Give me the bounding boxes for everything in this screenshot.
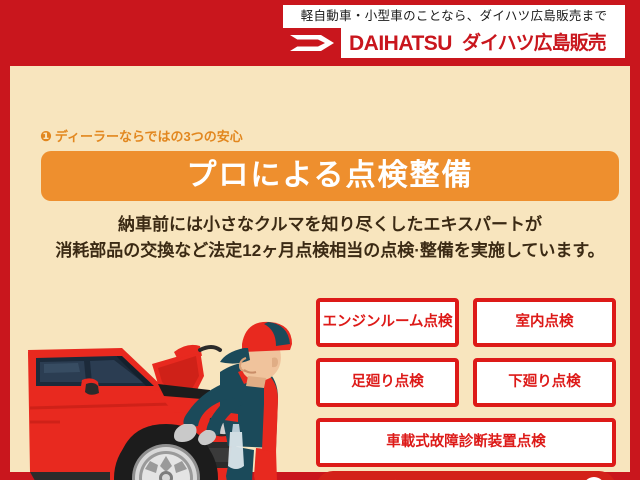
check-interior-label: 室内点検: [516, 315, 574, 330]
check-underbody-button[interactable]: 下廻り点検: [473, 358, 616, 407]
headline-text: プロによる点検整備: [186, 161, 473, 191]
inspection-row-1: エンジンルーム点検 室内点検: [316, 298, 616, 347]
brand-name-latin: DAIHATSU: [349, 33, 452, 54]
kicker-number: ❶: [40, 129, 52, 143]
inspection-row-2: 足廻り点検 下廻り点検: [316, 358, 616, 407]
check-suspension-button[interactable]: 足廻り点検: [316, 358, 459, 407]
content-panel: ❶ ディーラーならではの3つの安心 プロによる点検整備 納車前には小さなクルマを…: [10, 66, 630, 472]
brand-header: 軽自動車・小型車のことなら、ダイハツ広島販売まで DAIHATSU ダイハツ広島…: [0, 0, 640, 58]
brand-name-jp: ダイハツ広島販売: [462, 34, 606, 53]
check-suspension-label: 足廻り点検: [351, 375, 424, 390]
check-engine-room-label: エンジンルーム点検: [322, 315, 452, 330]
lead-line-2: 消耗部品の交換など法定12ヶ月点検相当の点検·整備を実施しています。: [41, 238, 619, 264]
check-engine-room-button[interactable]: エンジンルーム点検: [316, 298, 459, 347]
ucatch-cta-button[interactable]: 詳しくはU-CATCHで: [316, 471, 616, 480]
header-tagline: 軽自動車・小型車のことなら、ダイハツ広島販売まで: [301, 10, 608, 23]
header-tagline-box: 軽自動車・小型車のことなら、ダイハツ広島販売まで: [283, 5, 625, 28]
brand-logo-row: DAIHATSU ダイハツ広島販売: [283, 28, 625, 58]
daihatsu-d-emblem-icon: [283, 28, 341, 58]
inspection-row-3: 車載式故障診断装置点検: [316, 418, 616, 467]
check-obd-button[interactable]: 車載式故障診断装置点検: [316, 418, 616, 467]
inspection-items-list: エンジンルーム点検 室内点検 足廻り点検 下廻り点検 車載式故障診断装置点検: [316, 298, 616, 458]
check-interior-button[interactable]: 室内点検: [473, 298, 616, 347]
kicker-text: ディーラーならではの3つの安心: [55, 130, 243, 143]
headline-banner: プロによる点検整備: [41, 151, 619, 201]
advertisement-screen: 軽自動車・小型車のことなら、ダイハツ広島販売まで DAIHATSU ダイハツ広島…: [0, 0, 640, 480]
lead-paragraph: 納車前には小さなクルマを知り尽くしたエキスパートが 消耗部品の交換など法定12ヶ…: [41, 212, 619, 264]
lead-line-1: 納車前には小さなクルマを知り尽くしたエキスパートが: [41, 212, 619, 238]
check-underbody-label: 下廻り点検: [508, 375, 581, 390]
mechanic-inspecting-red-car-illustration: [24, 272, 314, 480]
check-obd-label: 車載式故障診断装置点検: [386, 435, 546, 450]
section-kicker: ❶ ディーラーならではの3つの安心: [40, 126, 440, 146]
